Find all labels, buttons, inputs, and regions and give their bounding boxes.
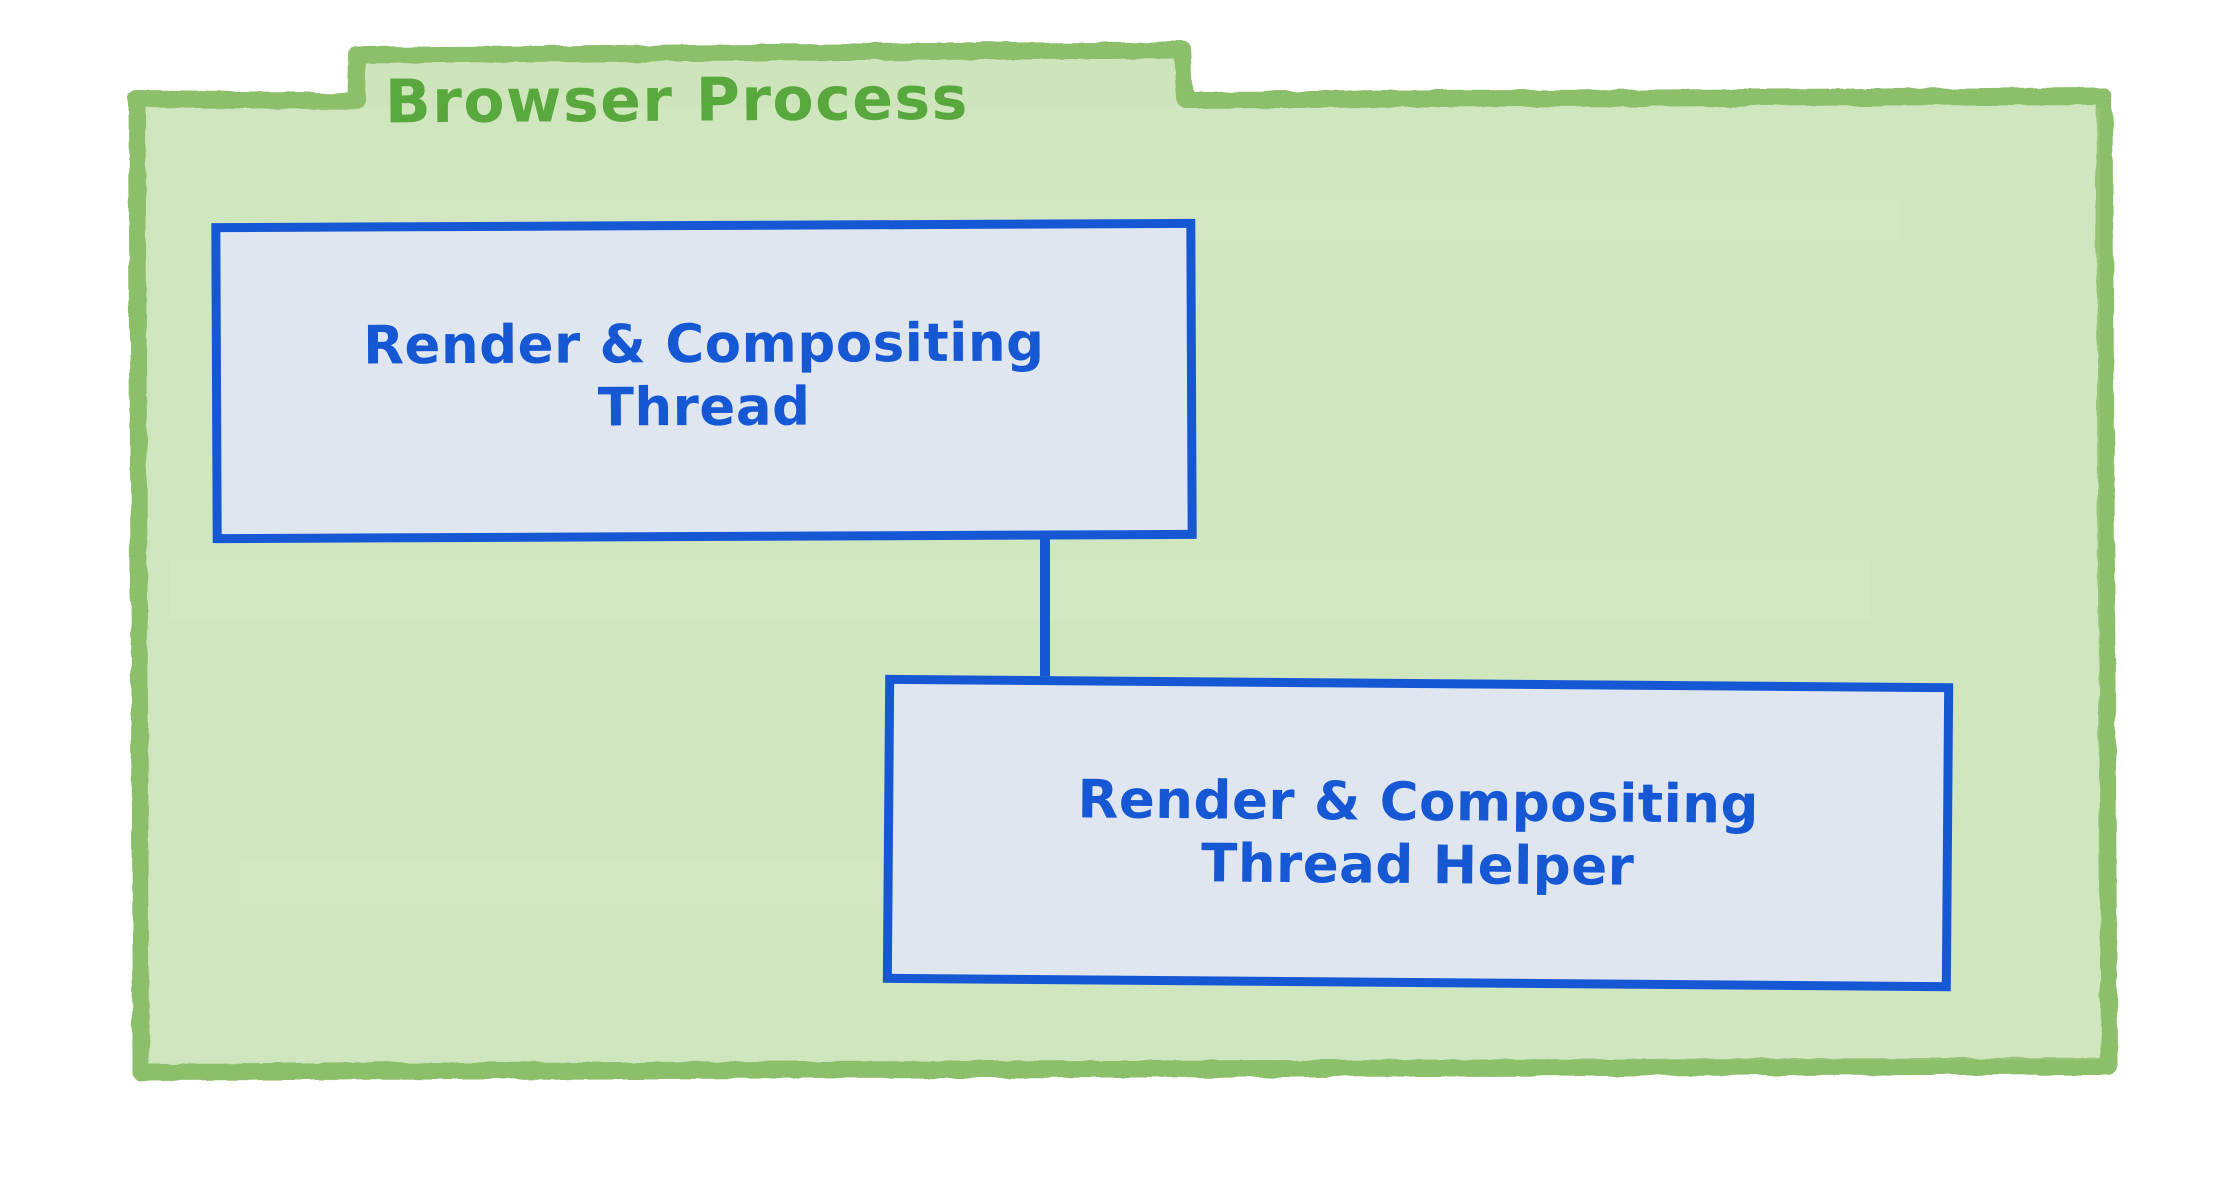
render-compositing-thread-helper-box[interactable]: Render & Compositing Thread Helper: [883, 675, 1953, 991]
browser-process-container: Browser Process: [0, 0, 2235, 1191]
process-container-shape: [0, 0, 2235, 1191]
render-compositing-thread-box[interactable]: Render & Compositing Thread: [211, 219, 1196, 543]
thread-label-line-1: Render & Compositing: [363, 313, 1045, 377]
thread-label-line-2: Thread: [598, 377, 811, 439]
render-compositing-thread-label: Render & Compositing Thread: [341, 313, 1067, 441]
connector-thread-to-helper: [1040, 534, 1050, 686]
helper-label-line-1: Render & Compositing: [1077, 770, 1759, 836]
diagram-canvas: Browser Process Render & Compositing Thr…: [0, 0, 2235, 1191]
helper-label-line-2: Thread Helper: [1201, 833, 1635, 897]
render-compositing-thread-helper-label: Render & Compositing Thread Helper: [1055, 770, 1781, 901]
process-title: Browser Process: [385, 54, 1176, 147]
